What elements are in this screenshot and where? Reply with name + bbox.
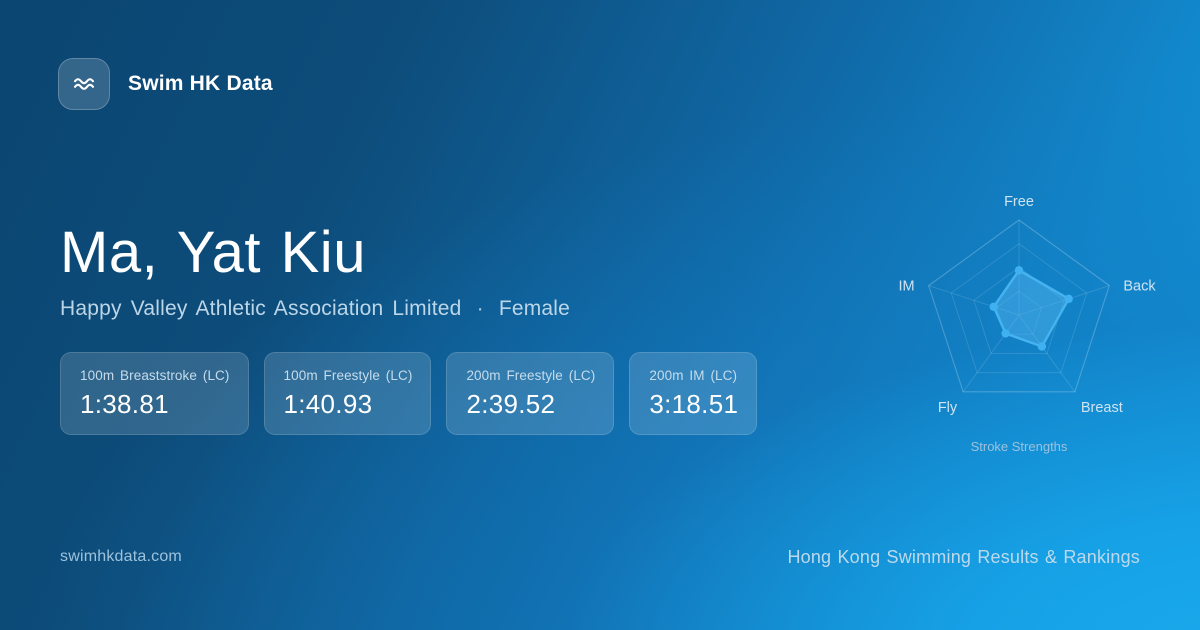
event-card: 100m Freestyle (LC) 1:40.93: [264, 352, 432, 435]
event-label: 200m IM (LC): [649, 368, 738, 383]
event-label: 100m Freestyle (LC): [284, 368, 413, 383]
radar-point-back: [1064, 295, 1072, 303]
wave-icon: [70, 70, 98, 98]
radar-caption: Stroke Strengths: [971, 439, 1068, 454]
footer-tagline: Hong Kong Swimming Results & Rankings: [787, 547, 1140, 568]
event-label: 100m Breaststroke (LC): [80, 368, 230, 383]
radar-svg: FreeBackBreastFlyIM Stroke Strengths: [869, 160, 1169, 470]
event-card-list: 100m Breaststroke (LC) 1:38.81 100m Free…: [60, 352, 757, 435]
athlete-club: Happy Valley Athletic Association Limite…: [60, 297, 462, 320]
radar-axis-label-free: Free: [1004, 194, 1034, 210]
event-card: 200m Freestyle (LC) 2:39.52: [446, 352, 614, 435]
footer-site-url: swimhkdata.com: [60, 548, 182, 566]
radar-axis-label-breast: Breast: [1081, 400, 1123, 416]
event-time: 2:39.52: [466, 389, 595, 420]
radar-axis-label-back: Back: [1123, 279, 1156, 295]
page-title: Ma, Yat Kiu: [60, 222, 570, 283]
event-time: 3:18.51: [649, 389, 738, 420]
share-card: Swim HK Data Ma, Yat Kiu Happy Valley At…: [0, 0, 1200, 630]
event-card: 200m IM (LC) 3:18.51: [629, 352, 757, 435]
event-time: 1:38.81: [80, 389, 230, 420]
athlete-meta: Happy Valley Athletic Association Limite…: [60, 297, 570, 321]
event-time: 1:40.93: [284, 389, 413, 420]
athlete-hero: Ma, Yat Kiu Happy Valley Athletic Associ…: [60, 222, 570, 321]
radar-point-im: [990, 303, 998, 311]
radar-point-fly: [1001, 329, 1009, 337]
radar-axis-label-fly: Fly: [938, 400, 958, 416]
event-label: 200m Freestyle (LC): [466, 368, 595, 383]
athlete-gender: Female: [499, 297, 570, 320]
brand-header: Swim HK Data: [58, 58, 273, 110]
radar-point-breast: [1038, 342, 1046, 350]
radar-point-free: [1015, 266, 1023, 274]
meta-separator: ·: [471, 297, 490, 320]
radar-axis-label-im: IM: [899, 279, 915, 295]
brand-name: Swim HK Data: [128, 72, 273, 96]
stroke-strengths-radar-chart: FreeBackBreastFlyIM Stroke Strengths: [869, 160, 1169, 470]
event-card: 100m Breaststroke (LC) 1:38.81: [60, 352, 249, 435]
app-logo-tile: [58, 58, 110, 110]
